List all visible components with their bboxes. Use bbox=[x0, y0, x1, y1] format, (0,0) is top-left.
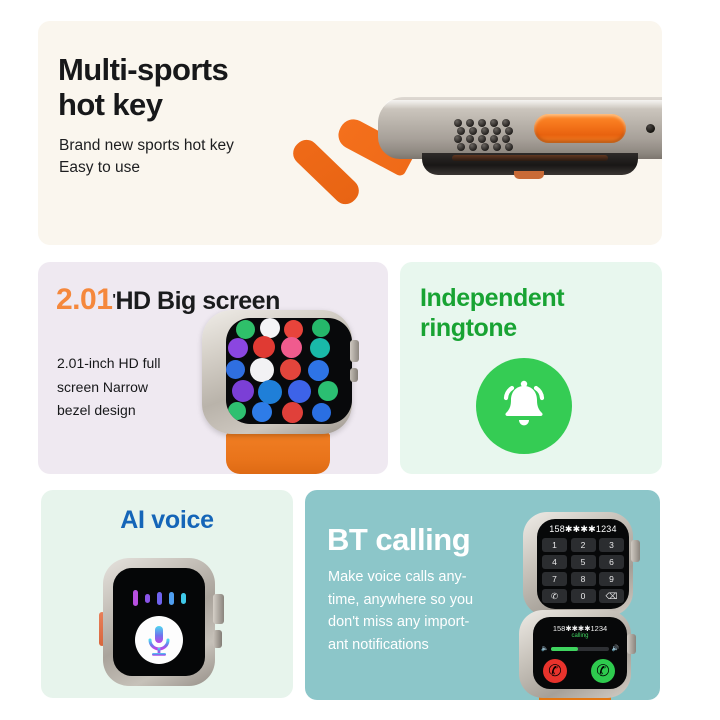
app-icon-blue-1[interactable] bbox=[226, 360, 245, 379]
speaker-grille-icon bbox=[454, 119, 520, 149]
voice-wave-bar-3 bbox=[157, 592, 162, 605]
app-icon-green-3[interactable] bbox=[318, 381, 338, 401]
decline-call-button[interactable]: ✆ bbox=[543, 659, 567, 683]
microphone-hole-icon bbox=[646, 124, 655, 133]
dialpad-key-✆[interactable]: ✆ bbox=[542, 589, 567, 603]
volume-low-icon: 🔈 bbox=[541, 645, 548, 652]
volume-slider-fill bbox=[551, 647, 577, 651]
watch-front-image bbox=[190, 310, 368, 474]
grille-hole bbox=[481, 127, 489, 135]
grille-hole bbox=[481, 143, 489, 151]
dialpad-key-6[interactable]: 6 bbox=[599, 555, 624, 569]
bt-calling-title: BT calling bbox=[327, 522, 470, 558]
dialpad-number-display: 158✱✱✱✱1234 bbox=[537, 524, 629, 535]
grille-hole bbox=[493, 127, 501, 135]
volume-high-icon: 🔊 bbox=[612, 645, 619, 652]
panel-bt-calling: BT calling Make voice calls any- time, a… bbox=[305, 490, 660, 700]
digital-crown-icon bbox=[213, 594, 224, 624]
dialpad-key-1[interactable]: 1 bbox=[542, 538, 567, 552]
side-button-icon bbox=[213, 630, 222, 648]
panel-hd-big-screen: 2.01'HD Big screen 2.01-inch HD full scr… bbox=[38, 262, 388, 474]
grille-hole bbox=[469, 127, 477, 135]
product-infographic: Multi-sports hot key Brand new sports ho… bbox=[0, 0, 720, 720]
dialpad-keypad[interactable]: 123456789✆0⌫ bbox=[542, 538, 624, 604]
watch-voice-screen bbox=[113, 568, 205, 676]
accept-call-button[interactable]: ✆ bbox=[591, 659, 615, 683]
grille-hole bbox=[454, 135, 462, 143]
dialpad-key-7[interactable]: 7 bbox=[542, 572, 567, 586]
watch-app-grid-screen bbox=[226, 318, 352, 424]
watch-band-connector bbox=[514, 171, 544, 179]
voice-wave-bar-2 bbox=[145, 594, 150, 603]
app-icon-blue-5[interactable] bbox=[312, 403, 331, 422]
grille-hole bbox=[478, 119, 486, 127]
call-screen: 158✱✱✱✱1234 calling 🔈 🔊 ✆ ✆ bbox=[533, 617, 627, 689]
grille-hole bbox=[469, 143, 477, 151]
app-icon-blue-4[interactable] bbox=[252, 402, 272, 422]
app-icon-blue-3[interactable] bbox=[288, 380, 311, 403]
digital-crown-icon bbox=[631, 540, 640, 562]
voice-wave-bar-5 bbox=[181, 593, 186, 604]
dialpad-key-0[interactable]: 0 bbox=[571, 589, 596, 603]
grille-hole bbox=[493, 143, 501, 151]
app-icon-green-1[interactable] bbox=[236, 320, 255, 339]
grille-hole bbox=[505, 127, 513, 135]
microphone-badge bbox=[135, 616, 183, 664]
call-number-display: 158✱✱✱✱1234 bbox=[533, 624, 627, 633]
app-icon-green-2[interactable] bbox=[312, 319, 330, 337]
microphone-icon bbox=[135, 616, 183, 664]
panel-independent-ringtone: Independent ringtone bbox=[400, 262, 662, 474]
sports-title: Multi-sports hot key bbox=[58, 53, 228, 122]
sports-subtitle: Brand new sports hot key Easy to use bbox=[59, 135, 234, 179]
grille-hole bbox=[505, 143, 513, 151]
grille-hole bbox=[466, 119, 474, 127]
volume-slider-row[interactable]: 🔈 🔊 bbox=[541, 644, 619, 653]
screen-subtitle: 2.01-inch HD full screen Narrow bezel de… bbox=[57, 352, 161, 423]
watch-case: 158✱✱✱✱1234 calling 🔈 🔊 ✆ ✆ bbox=[519, 610, 631, 698]
ringtone-title: Independent ringtone bbox=[420, 284, 564, 343]
voice-wave-bar-4 bbox=[169, 592, 174, 605]
app-icon-pink-1[interactable] bbox=[281, 337, 302, 358]
app-icon-white-1[interactable] bbox=[260, 318, 280, 338]
side-button-icon bbox=[350, 368, 358, 382]
call-screen-watch-image: 158✱✱✱✱1234 calling 🔈 🔊 ✆ ✆ bbox=[511, 610, 645, 700]
voice-wave-bar-1 bbox=[133, 590, 138, 606]
app-icon-white-2[interactable] bbox=[250, 358, 274, 382]
digital-crown-icon bbox=[350, 340, 359, 362]
ai-voice-watch-image bbox=[103, 558, 229, 686]
watch-case bbox=[202, 310, 352, 434]
dialpad-key-2[interactable]: 2 bbox=[571, 538, 596, 552]
grille-hole bbox=[457, 143, 465, 151]
app-icon-rings[interactable] bbox=[258, 380, 282, 404]
grille-hole bbox=[457, 127, 465, 135]
call-status-text: calling bbox=[533, 633, 627, 639]
dialpad-key-9[interactable]: 9 bbox=[599, 572, 624, 586]
bell-icon bbox=[498, 378, 550, 434]
dialpad-watch-image: 158✱✱✱✱1234 123456789✆0⌫ bbox=[517, 512, 645, 620]
panel-ai-voice: AI voice bbox=[41, 490, 293, 698]
volume-slider-track[interactable] bbox=[551, 647, 608, 651]
panel-multi-sports-hot-key: Multi-sports hot key Brand new sports ho… bbox=[38, 21, 662, 245]
app-icon-purple-1[interactable] bbox=[228, 338, 248, 358]
dialpad-key-4[interactable]: 4 bbox=[542, 555, 567, 569]
screen-size-value: 2.01 bbox=[56, 283, 112, 316]
grille-hole bbox=[502, 119, 510, 127]
app-icon-red-3[interactable] bbox=[280, 359, 301, 380]
watch-case: 158✱✱✱✱1234 123456789✆0⌫ bbox=[523, 512, 633, 616]
app-icon-teal-1[interactable] bbox=[310, 338, 330, 358]
grille-hole bbox=[466, 135, 474, 143]
ai-voice-title: AI voice bbox=[41, 506, 293, 535]
app-icon-red-2[interactable] bbox=[253, 336, 275, 358]
dialpad-key-5[interactable]: 5 bbox=[571, 555, 596, 569]
grille-hole bbox=[454, 119, 462, 127]
app-icon-purple-2[interactable] bbox=[232, 380, 254, 402]
grille-hole bbox=[502, 135, 510, 143]
app-icon-red-4[interactable] bbox=[282, 402, 303, 423]
watch-case bbox=[103, 558, 215, 686]
grille-hole bbox=[490, 135, 498, 143]
digital-crown-icon bbox=[627, 634, 636, 654]
watch-side-profile-image bbox=[378, 97, 662, 183]
ringtone-icon-badge bbox=[476, 358, 572, 454]
grille-hole bbox=[490, 119, 498, 127]
grille-hole bbox=[478, 135, 486, 143]
orange-action-button bbox=[534, 114, 626, 143]
app-icon-green-4[interactable] bbox=[228, 402, 246, 420]
app-icon-red-1[interactable] bbox=[284, 320, 303, 339]
app-icon-blue-2[interactable] bbox=[308, 360, 329, 381]
dialpad-key-⌫[interactable]: ⌫ bbox=[599, 589, 624, 603]
dialpad-key-3[interactable]: 3 bbox=[599, 538, 624, 552]
dialpad-key-8[interactable]: 8 bbox=[571, 572, 596, 586]
dialpad-screen: 158✱✱✱✱1234 123456789✆0⌫ bbox=[537, 519, 629, 609]
